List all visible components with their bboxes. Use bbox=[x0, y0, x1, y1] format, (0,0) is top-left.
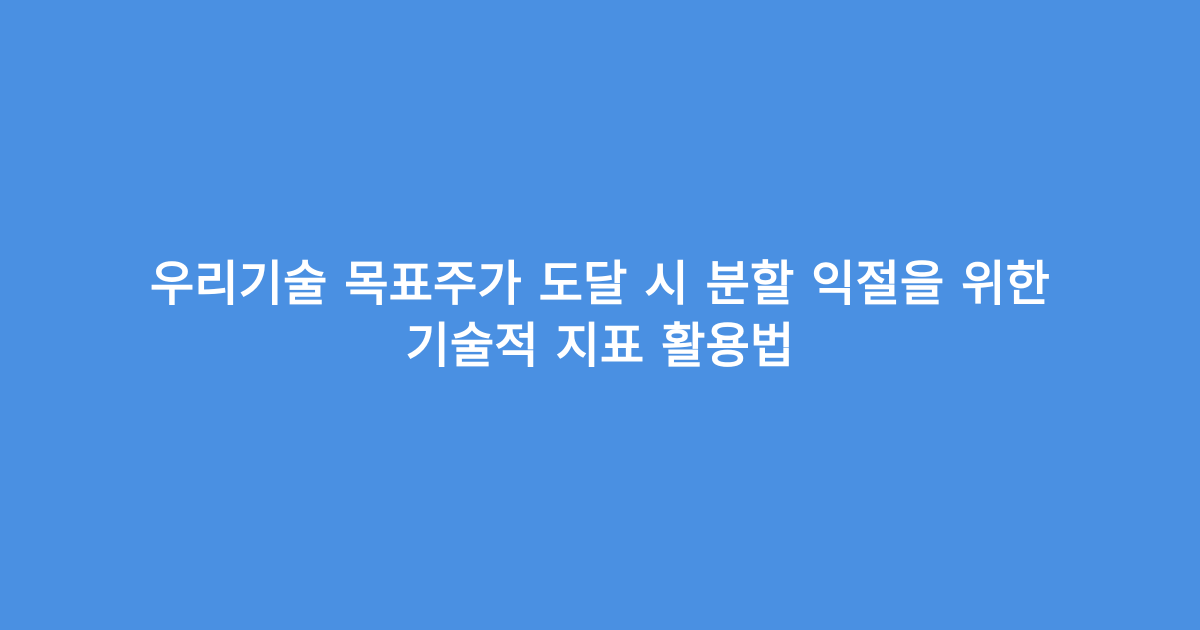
title-line-2: 기술적 지표 활용법 bbox=[100, 315, 1100, 377]
share-card: 우리기술 목표주가 도달 시 분할 익절을 위한 기술적 지표 활용법 bbox=[0, 0, 1200, 630]
title-line-1: 우리기술 목표주가 도달 시 분할 익절을 위한 bbox=[100, 253, 1100, 315]
page-title: 우리기술 목표주가 도달 시 분할 익절을 위한 기술적 지표 활용법 bbox=[100, 253, 1100, 377]
